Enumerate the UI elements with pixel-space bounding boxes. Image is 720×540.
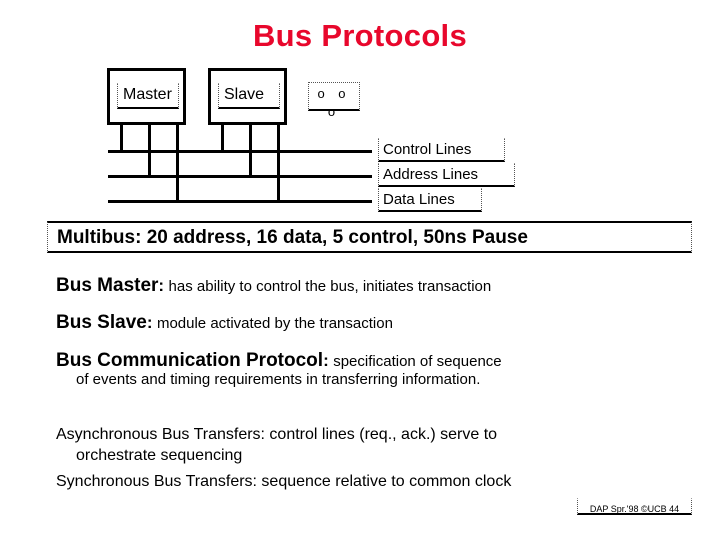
async-transfers-line1: Asynchronous Bus Transfers: control line…	[56, 426, 497, 444]
bullet-bus-slave: Bus Slave: module activated by the trans…	[56, 312, 393, 334]
bullet-bus-protocol: Bus Communication Protocol: specificatio…	[56, 350, 502, 372]
data-lines-label: Data Lines	[378, 188, 482, 212]
control-lines-label: Control Lines	[378, 138, 505, 162]
bullet-bus-slave-colon: :	[147, 313, 153, 332]
footer-text: DAP Spr.'98 ©UCB 44	[590, 504, 679, 514]
sync-transfers-line1: Synchronous Bus Transfers: sequence rela…	[56, 473, 511, 491]
async-transfers-line2: orchestrate sequencing	[76, 447, 242, 465]
address-lines-label: Address Lines	[378, 163, 515, 187]
master-module-label: Master	[117, 83, 179, 109]
data-bus-line	[108, 200, 372, 203]
bullet-bus-slave-lead: Bus Slave	[56, 312, 147, 333]
footer-box: DAP Spr.'98 ©UCB 44	[577, 498, 692, 515]
master-module: Master	[107, 68, 186, 125]
control-bus-line	[108, 150, 372, 153]
slave-module-label: Slave	[218, 83, 280, 109]
bullet-bus-protocol-lead: Bus Communication Protocol	[56, 350, 323, 371]
more-modules-box: o o o	[308, 82, 360, 111]
bullet-bus-master-lead: Bus Master	[56, 275, 158, 296]
bullet-bus-master-detail: has ability to control the bus, initiate…	[169, 278, 492, 295]
master-stub-control	[120, 125, 123, 152]
bus-diagram: Master Slave o o o Control Lines Address…	[0, 0, 720, 215]
address-bus-line	[108, 175, 372, 178]
bullet-bus-master-colon: :	[158, 276, 164, 295]
multibus-text: Multibus: 20 address, 16 data, 5 control…	[57, 226, 528, 250]
slave-stub-data	[277, 125, 280, 202]
master-stub-data	[176, 125, 179, 202]
bullet-bus-protocol-detail: specification of sequence	[333, 353, 501, 370]
bullet-bus-protocol-continuation: of events and timing requirements in tra…	[76, 371, 480, 388]
bullet-bus-master: Bus Master: has ability to control the b…	[56, 275, 491, 297]
bullet-bus-slave-detail: module activated by the transaction	[157, 315, 393, 332]
slave-module: Slave	[208, 68, 287, 125]
bullet-bus-protocol-colon: :	[323, 351, 329, 370]
slave-stub-control	[221, 125, 224, 152]
multibus-banner: Multibus: 20 address, 16 data, 5 control…	[47, 221, 692, 253]
